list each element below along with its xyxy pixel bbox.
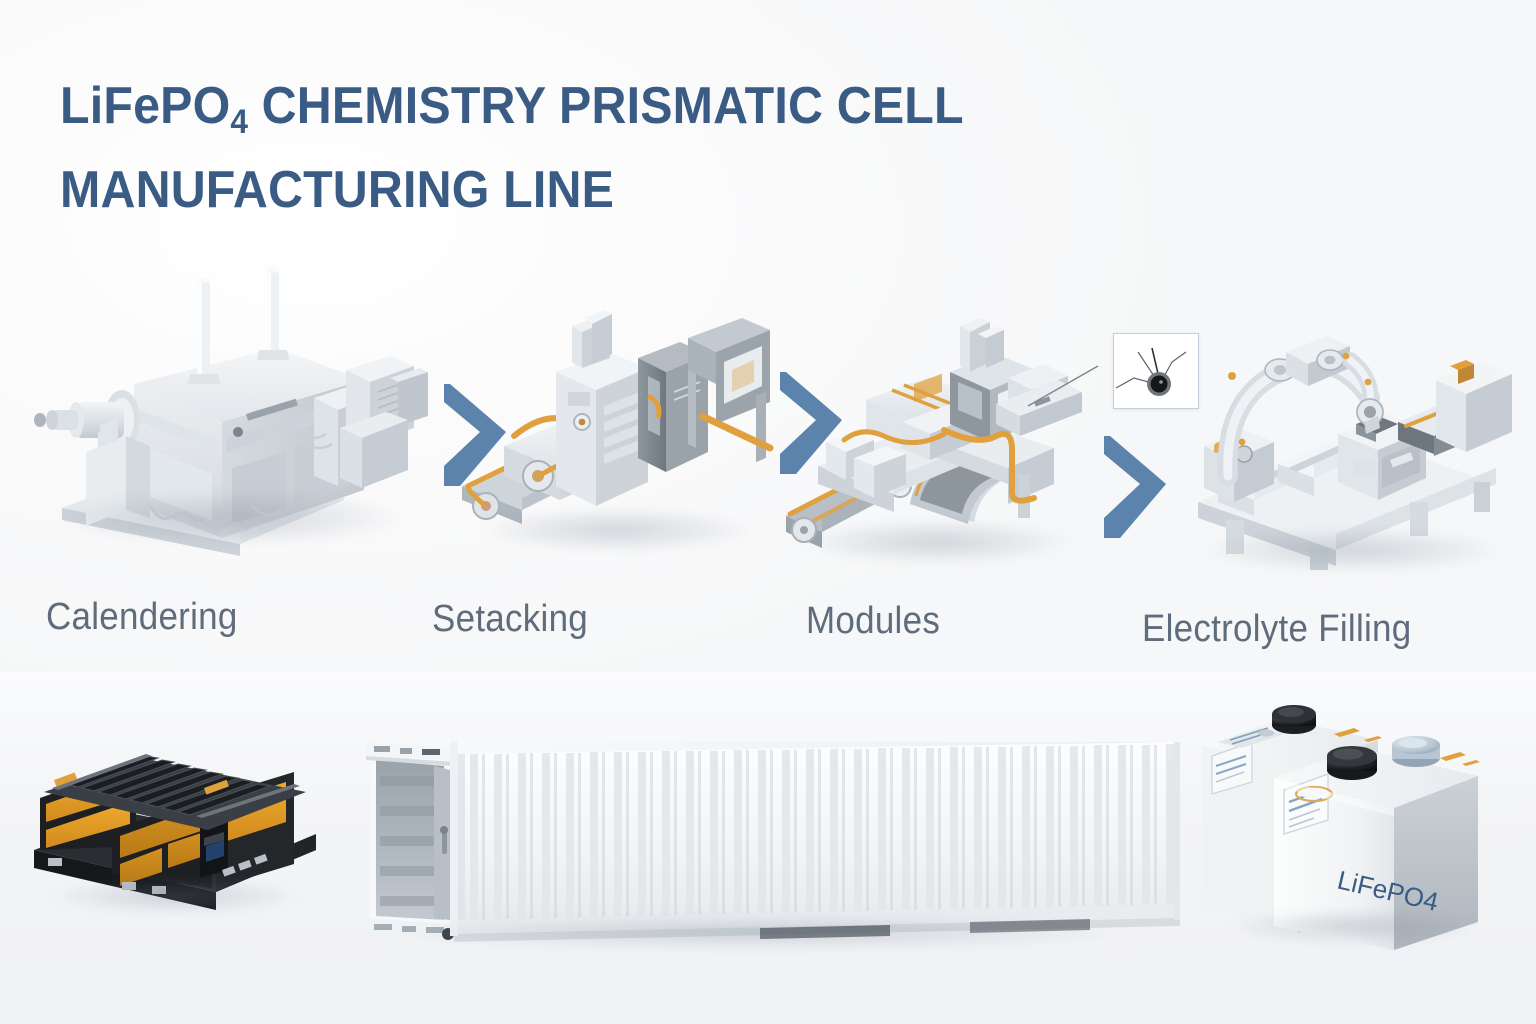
title-lifepo: LiFePO — [60, 77, 230, 135]
poster-canvas: LiFePO4 CHEMISTRY PRISMATIC CELLMANUFACT… — [0, 0, 1536, 1024]
stage-modules[interactable]: Modules — [782, 308, 1112, 568]
module-assembly-icon — [782, 308, 1112, 568]
stage-setacking[interactable]: Setacking — [452, 300, 792, 560]
title-subscript-4: 4 — [230, 103, 248, 141]
stage-calendering[interactable]: Calendering — [14, 262, 434, 562]
stage-caption-electrolyte-filling: Electrolyte Filling — [1142, 608, 1411, 651]
calendering-machine-icon — [14, 262, 434, 562]
product-shipping-container[interactable] — [330, 720, 1180, 950]
prismatic-cell-icon: LiFePO4 — [1188, 700, 1498, 950]
chevron-right-icon — [1104, 432, 1174, 542]
title-rest: CHEMISTRY PRISMATIC CELL — [248, 77, 964, 135]
stage-caption-calendering: Calendering — [46, 596, 238, 639]
stage-electrolyte-filling[interactable]: Electrolyte Filling — [1182, 324, 1522, 574]
arrow-3 — [1104, 432, 1174, 542]
title-line2: MANUFACTURING LINE — [60, 161, 614, 219]
battery-module-pack-icon — [26, 722, 326, 922]
product-battery-module-pack[interactable] — [26, 722, 326, 922]
page-title: LiFePO4 CHEMISTRY PRISMATIC CELLMANUFACT… — [60, 72, 1232, 224]
stage-caption-setacking: Setacking — [432, 598, 588, 641]
robot-filling-icon — [1182, 324, 1522, 574]
product-prismatic-cells[interactable]: LiFePO4 — [1188, 700, 1498, 950]
shipping-container-icon — [330, 720, 1180, 950]
stacking-machine-icon — [452, 300, 792, 560]
stage-caption-modules: Modules — [806, 600, 940, 643]
